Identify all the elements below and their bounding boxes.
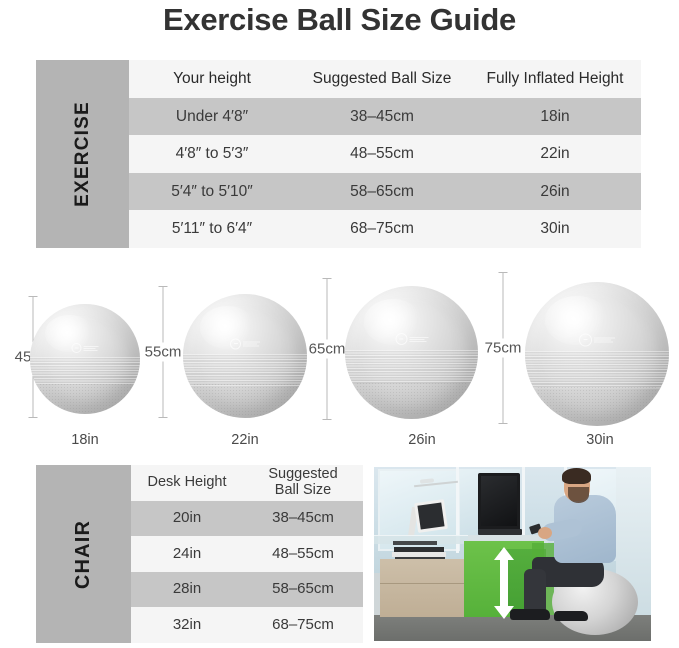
measure-55cm: 55cm bbox=[146, 286, 180, 418]
table-row: Under 4′8″ 38–45cm 18in bbox=[129, 98, 641, 136]
chair-side-tab: CHAIR bbox=[36, 465, 131, 643]
chair-table: CHAIR Desk Height Suggested Ball Size 20… bbox=[36, 465, 363, 643]
cell-height: 5′4″ to 5′10″ bbox=[129, 183, 295, 200]
chair-table-grid: Desk Height Suggested Ball Size 20in 38–… bbox=[131, 465, 363, 643]
measure-label: 75cm bbox=[484, 339, 523, 358]
exercise-ball-45cm bbox=[30, 304, 140, 414]
ball-texture-dots bbox=[39, 383, 131, 412]
cell-height: Under 4′8″ bbox=[129, 108, 295, 125]
cell-desk-height: 20in bbox=[131, 510, 243, 527]
cell-ball-size: 38–45cm bbox=[243, 510, 363, 527]
brand-logo bbox=[230, 338, 260, 349]
table-row: 32in 68–75cm bbox=[131, 607, 363, 643]
ball-caption-26in: 26in bbox=[382, 432, 462, 448]
cell-ball-size: 48–55cm bbox=[243, 546, 363, 563]
cell-ball-size: 58–65cm bbox=[243, 581, 363, 598]
header-line-1: Suggested bbox=[243, 467, 363, 483]
logo-text-lines bbox=[84, 346, 99, 351]
exercise-ball-65cm bbox=[345, 286, 478, 419]
cell-inflated-height: 18in bbox=[469, 108, 641, 125]
measure-75cm: 75cm bbox=[486, 272, 520, 424]
ball-stripes bbox=[183, 354, 307, 386]
cell-ball-size: 38–45cm bbox=[295, 108, 469, 125]
ball-caption-18in: 18in bbox=[45, 432, 125, 448]
column-header-suggested-ball-size: Suggested Ball Size bbox=[243, 467, 363, 498]
photo-border bbox=[372, 465, 653, 643]
measure-label: 65cm bbox=[308, 340, 347, 359]
cell-inflated-height: 26in bbox=[469, 183, 641, 200]
column-header-your-height: Your height bbox=[129, 70, 295, 87]
size-guide-page: Exercise Ball Size Guide EXERCISE Your h… bbox=[0, 0, 679, 648]
table-row: 5′11″ to 6′4″ 68–75cm 30in bbox=[129, 210, 641, 248]
cell-height: 5′11″ to 6′4″ bbox=[129, 220, 295, 237]
cell-desk-height: 28in bbox=[131, 581, 243, 598]
exercise-side-label: EXERCISE bbox=[72, 101, 94, 207]
cell-desk-height: 24in bbox=[131, 546, 243, 563]
logo-text-lines bbox=[594, 337, 615, 342]
ball-texture-dots bbox=[193, 383, 297, 415]
cell-ball-size: 68–75cm bbox=[295, 220, 469, 237]
cell-inflated-height: 30in bbox=[469, 220, 641, 237]
table-header-row: Your height Suggested Ball Size Fully In… bbox=[129, 60, 641, 98]
g-logo-icon bbox=[579, 333, 592, 346]
g-logo-icon bbox=[395, 333, 407, 345]
exercise-table-grid: Your height Suggested Ball Size Fully In… bbox=[129, 60, 641, 248]
cell-inflated-height: 22in bbox=[469, 145, 641, 162]
page-title: Exercise Ball Size Guide bbox=[0, 2, 679, 38]
table-row: 5′4″ to 5′10″ 58–65cm 26in bbox=[129, 173, 641, 211]
chair-side-label: CHAIR bbox=[72, 519, 95, 588]
ball-texture-dots bbox=[356, 382, 468, 417]
cell-ball-size: 48–55cm bbox=[295, 145, 469, 162]
brand-logo bbox=[579, 333, 615, 346]
g-logo-icon bbox=[230, 338, 241, 349]
table-row: 24in 48–55cm bbox=[131, 536, 363, 572]
exercise-table: EXERCISE Your height Suggested Ball Size… bbox=[36, 60, 641, 248]
office-photo bbox=[372, 465, 653, 643]
ball-size-illustrations: 45cm 18in 55cm bbox=[0, 268, 679, 460]
measure-label: 55cm bbox=[144, 343, 183, 362]
g-logo-icon bbox=[72, 343, 82, 353]
ball-caption-22in: 22in bbox=[205, 432, 285, 448]
column-header-suggested-ball-size: Suggested Ball Size bbox=[295, 70, 469, 87]
ball-stripes bbox=[525, 351, 669, 388]
exercise-ball-55cm bbox=[183, 294, 307, 418]
cell-desk-height: 32in bbox=[131, 617, 243, 634]
ball-texture-dots bbox=[537, 386, 658, 423]
table-row: 4′8″ to 5′3″ 48–55cm 22in bbox=[129, 135, 641, 173]
cell-height: 4′8″ to 5′3″ bbox=[129, 145, 295, 162]
table-row: 28in 58–65cm bbox=[131, 572, 363, 608]
table-header-row: Desk Height Suggested Ball Size bbox=[131, 465, 363, 501]
table-row: 20in 38–45cm bbox=[131, 501, 363, 537]
logo-text-lines bbox=[243, 341, 260, 346]
cell-ball-size: 68–75cm bbox=[243, 617, 363, 634]
header-line-2: Ball Size bbox=[243, 483, 363, 499]
cell-ball-size: 58–65cm bbox=[295, 183, 469, 200]
measure-65cm: 65cm bbox=[310, 278, 344, 420]
ball-stripes bbox=[345, 350, 478, 385]
column-header-fully-inflated-height: Fully Inflated Height bbox=[469, 70, 641, 87]
ball-caption-30in: 30in bbox=[560, 432, 640, 448]
exercise-ball-75cm bbox=[525, 282, 669, 426]
brand-logo bbox=[72, 343, 99, 353]
brand-logo bbox=[395, 333, 428, 345]
column-header-desk-height: Desk Height bbox=[131, 475, 243, 491]
ball-stripes bbox=[30, 357, 140, 386]
exercise-side-tab: EXERCISE bbox=[36, 60, 129, 248]
logo-text-lines bbox=[409, 337, 428, 342]
